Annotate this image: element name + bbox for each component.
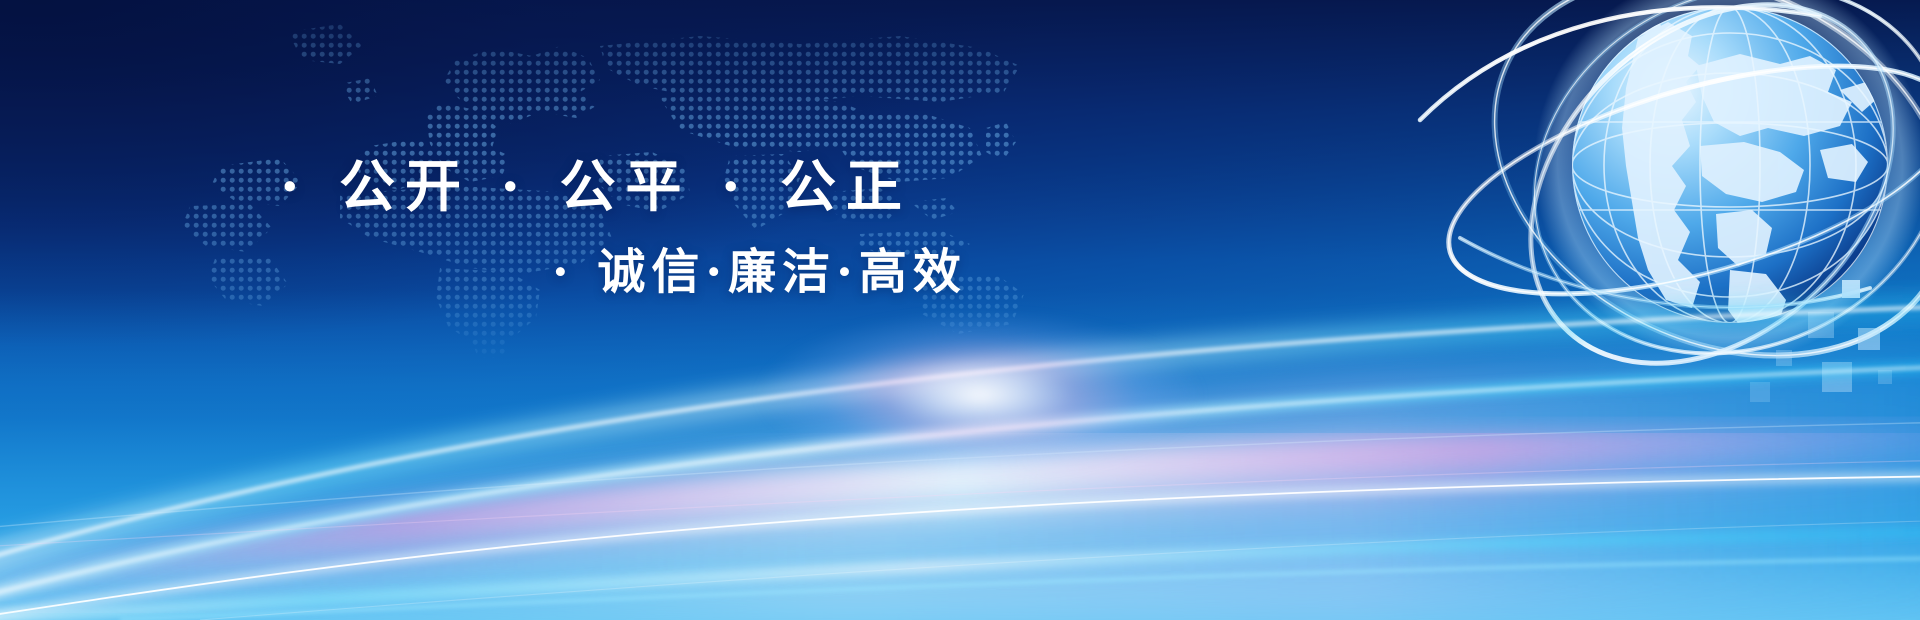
- slogan-block: · 公开 · 公平 · 公正 · 诚信·廉洁·高效: [0, 0, 1100, 340]
- world-map-dots-icon: [40, 6, 1040, 366]
- banner-root: · 公开 · 公平 · 公正 · 诚信·廉洁·高效: [0, 0, 1920, 620]
- globe-graphic-icon: [1400, 0, 1920, 400]
- background-bottom-glow: [0, 290, 1920, 620]
- background-deep-gradient: [0, 0, 1920, 620]
- wave-core-glow: [700, 290, 1260, 500]
- light-wave-graphic: [0, 280, 1920, 620]
- pixel-squares-icon: [1690, 250, 1920, 410]
- slogan-line-1: · 公开 · 公平 · 公正: [280, 142, 912, 223]
- slogan-line-2: · 诚信·廉洁·高效: [552, 232, 967, 302]
- background-corner-shadow: [0, 0, 1920, 620]
